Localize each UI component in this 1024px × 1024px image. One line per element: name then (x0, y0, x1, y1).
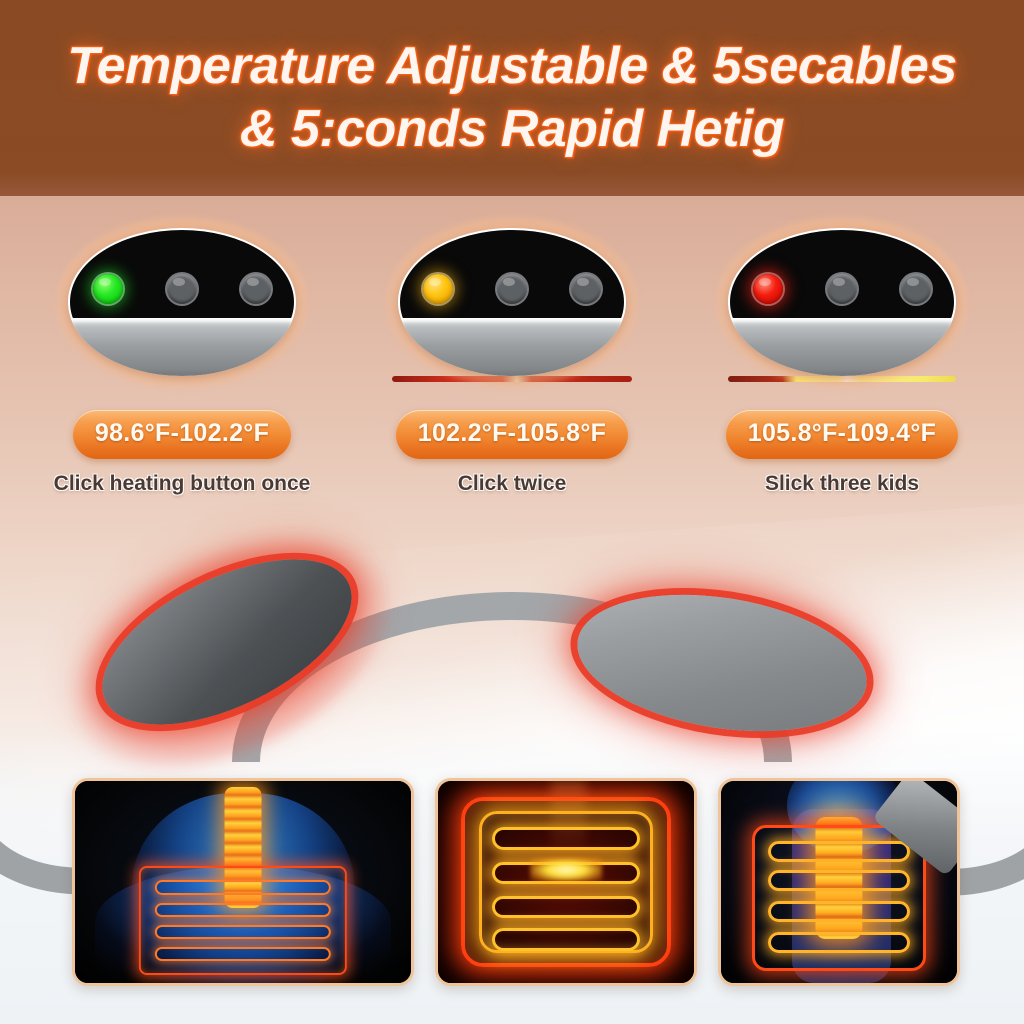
thumb-heating-element (435, 778, 697, 986)
product-infographic: Temperature Adjustable & 5secables & 5:c… (0, 0, 1024, 1024)
led-indicator-off-2 (901, 274, 931, 304)
mode-medium: 102.2°F-105.8°F Click twice (356, 228, 668, 528)
mode-low: 98.6°F-102.2°F Click heating button once (26, 228, 338, 528)
thumb-neck-xray (718, 778, 960, 986)
led-indicator-red-on (753, 274, 783, 304)
control-panel-medium[interactable] (398, 228, 626, 376)
coil-line (768, 841, 910, 862)
led-group-medium (398, 274, 626, 304)
heating-coil-overlay (752, 825, 927, 970)
header-banner: Temperature Adjustable & 5secables & 5:c… (0, 0, 1024, 196)
panel-base (72, 318, 292, 376)
temperature-modes-row: 98.6°F-102.2°F Click heating button once (0, 228, 1024, 528)
coil-line (155, 925, 331, 940)
heat-core-glow (530, 858, 602, 882)
control-panel-high[interactable] (728, 228, 956, 376)
led-indicator-off-2 (571, 274, 601, 304)
temp-badge-stack-high: 105.8°F-109.4°F (726, 376, 958, 459)
coil-line (155, 903, 331, 918)
mode-caption-high: Slick three kids (765, 472, 919, 496)
panel-base (402, 318, 622, 376)
led-indicator-off-1 (167, 274, 197, 304)
panel-base (732, 318, 952, 376)
mode-caption-low: Click heating button once (54, 472, 311, 496)
control-panel-low[interactable] (68, 228, 296, 376)
panel-body (398, 228, 626, 376)
mode-high: 105.8°F-109.4°F Slick three kids (686, 228, 998, 528)
coil-line (768, 870, 910, 891)
mode-caption-medium: Click twice (458, 472, 567, 496)
led-indicator-off-1 (827, 274, 857, 304)
coil-line (155, 947, 331, 962)
feature-thumbnails (72, 778, 960, 990)
temperature-badge-low: 98.6°F-102.2°F (73, 410, 291, 459)
thumb-spine-xray (72, 778, 414, 986)
heat-coil-bar (492, 928, 640, 950)
heat-coil-bar (492, 896, 640, 918)
temperature-badge-medium: 102.2°F-105.8°F (396, 410, 628, 459)
led-indicator-amber-on (423, 274, 453, 304)
led-indicator-off-1 (497, 274, 527, 304)
heating-coil-overlay (139, 866, 347, 975)
temp-badge-stack-low: 98.6°F-102.2°F (73, 376, 291, 459)
heat-coil-bar (492, 827, 640, 849)
panel-body (68, 228, 296, 376)
headline-line-2: & 5:conds Rapid Hetig (240, 102, 784, 157)
coil-line (155, 880, 331, 895)
temperature-badge-high: 105.8°F-109.4°F (726, 410, 958, 459)
led-indicator-green-on (93, 274, 123, 304)
headline-line-1: Temperature Adjustable & 5secables (67, 39, 957, 94)
temp-badge-stack-medium: 102.2°F-105.8°F (392, 376, 632, 459)
led-group-low (68, 274, 296, 304)
panel-body (728, 228, 956, 376)
coil-line (768, 901, 910, 922)
coil-line (768, 932, 910, 953)
led-group-high (728, 274, 956, 304)
led-indicator-off-2 (241, 274, 271, 304)
